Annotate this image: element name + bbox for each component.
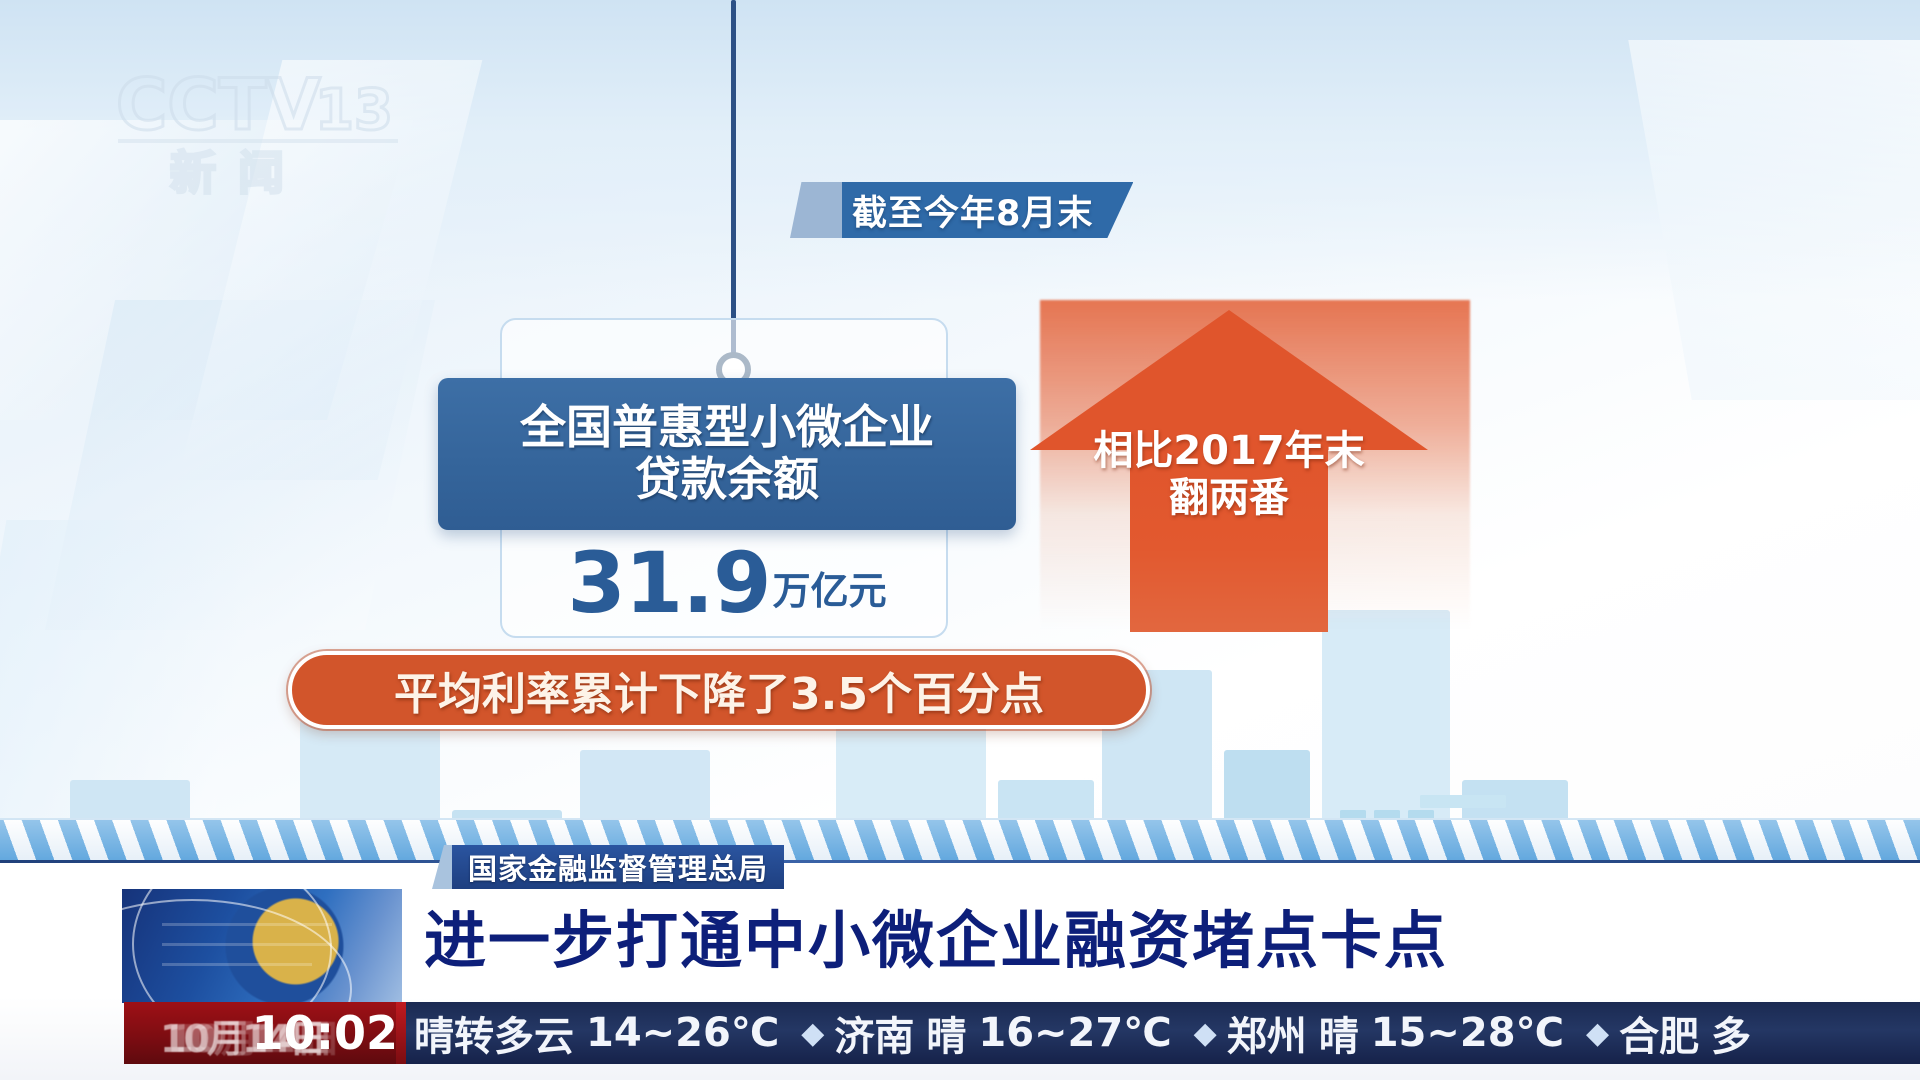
period-tag-banner: 截至今年8月末 (790, 182, 1133, 238)
metric-title-box: 全国普惠型小微企业 贷款余额 (438, 378, 1016, 530)
weather-ticker-track: 晴转多云14~26℃◆济南晴16~27℃◆郑州晴15~28℃◆合肥多 (406, 1004, 1763, 1062)
headline-text: 进一步打通中小微企业融资堵点卡点 (424, 890, 1448, 980)
cctv-logo-text: CCTV (116, 64, 321, 146)
agency-tag-body: 国家金融监督管理总局 (452, 845, 784, 889)
ticker-temperature: 16~27℃ (978, 1010, 1171, 1056)
callout-connector-line (731, 0, 736, 362)
metric-title-line1: 全国普惠型小微企业 (520, 403, 934, 453)
cctv-logo-rule (118, 139, 398, 143)
ticker-separator: ◆ (1194, 1016, 1217, 1051)
ticker-separator: ◆ (801, 1016, 824, 1051)
metric-value-group: 31.9 万亿元 (438, 538, 1016, 624)
ticker-condition: 晴转多云 (414, 1004, 574, 1062)
ticker-city: 郑州 (1227, 1004, 1307, 1062)
cctv-logo-subtitle: 新闻 (170, 146, 306, 195)
lower-third-topline (0, 860, 1920, 863)
striped-divider-shade (0, 818, 1920, 860)
arrow-label-group: 相比2017年末 翻两番 (1032, 428, 1426, 522)
ticker-condition: 多 (1711, 1004, 1751, 1062)
ticker-city: 济南 (834, 1004, 914, 1062)
tag-banner-label: 截至今年8月末 (852, 185, 1093, 236)
agency-name: 国家金融监督管理总局 (468, 846, 768, 888)
ticker-condition: 晴 (1319, 1004, 1359, 1062)
weather-ticker[interactable]: 晴转多云14~26℃◆济南晴16~27℃◆郑州晴15~28℃◆合肥多 (406, 1002, 1920, 1064)
ticker-temperature: 14~26℃ (586, 1010, 779, 1056)
clock-widget: 10月14日 10:02 (124, 1002, 406, 1064)
metric-unit: 万亿元 (773, 560, 887, 624)
ticker-temperature: 15~28℃ (1371, 1010, 1564, 1056)
ticker-city: 合肥 (1619, 1004, 1699, 1062)
rate-decline-text: 平均利率累计下降了3.5个百分点 (394, 658, 1044, 722)
metric-value: 31.9 (567, 544, 770, 624)
ticker-separator: ◆ (1586, 1016, 1609, 1051)
arrow-label-line2: 翻两番 (1032, 475, 1426, 522)
tag-banner-body: 截至今年8月末 (842, 182, 1133, 238)
headline-container: 进一步打通中小微企业融资堵点卡点 (424, 897, 1844, 973)
broadcast-screen: CCTV 13 新闻 截至今年8月末 相比2017年末 翻两番 全国普惠型小微企… (0, 0, 1920, 1080)
metric-title-line2: 贷款余额 (635, 455, 819, 505)
clock-time: 10:02 (252, 1006, 398, 1060)
tag-banner-left-notch (790, 182, 842, 238)
arrow-label-line1: 相比2017年末 (1032, 428, 1426, 475)
cctv-logo-number: 13 (315, 78, 393, 143)
agency-tag: 国家金融监督管理总局 (432, 845, 784, 889)
cctv-logo: CCTV 13 新闻 (110, 55, 410, 195)
news-globe-graphic (122, 889, 402, 1003)
rate-decline-pill: 平均利率累计下降了3.5个百分点 (288, 651, 1150, 729)
agency-tag-notch (432, 845, 452, 889)
ticker-condition: 晴 (926, 1004, 966, 1062)
